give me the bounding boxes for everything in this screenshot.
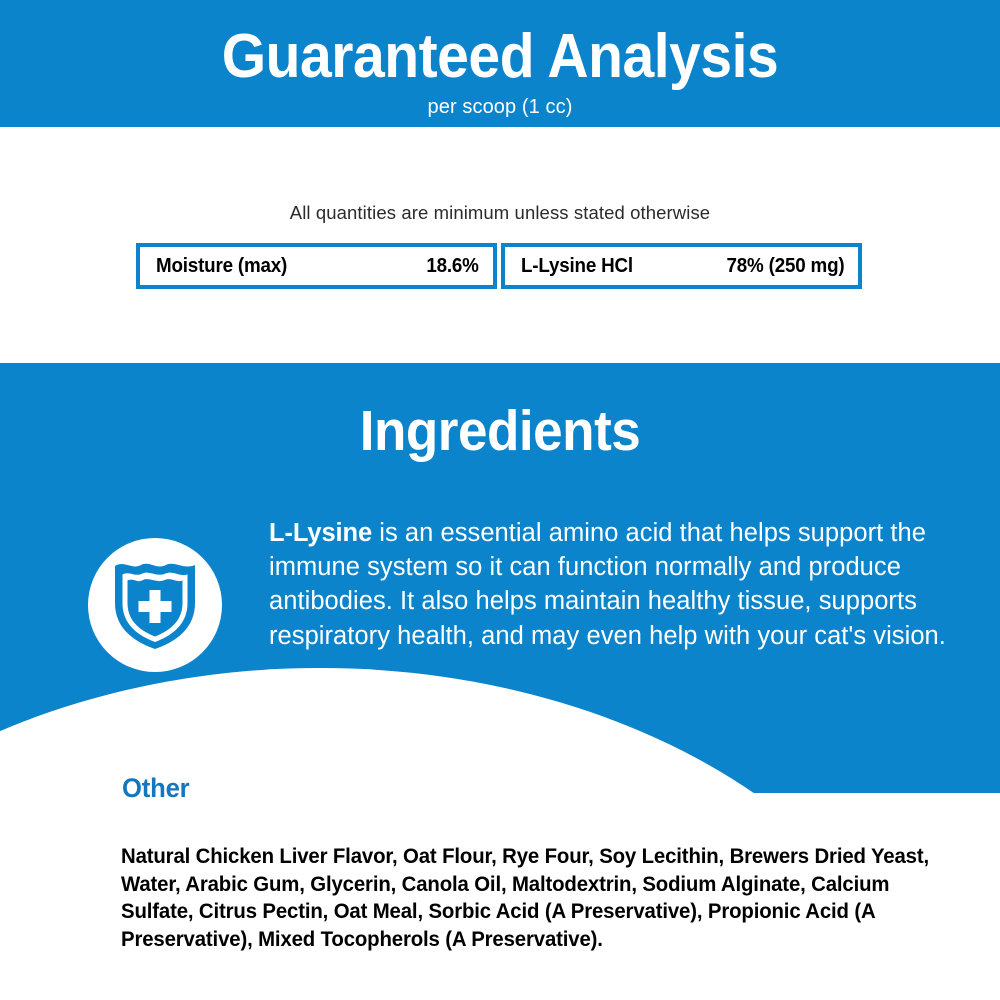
ingredient-lead-term: L-Lysine xyxy=(269,519,372,547)
guaranteed-analysis-label: Guaranteed Analysis per scoop (1 cc) All… xyxy=(0,0,1000,1000)
analysis-note: All quantities are minimum unless stated… xyxy=(0,201,1000,225)
analysis-section: All quantities are minimum unless stated… xyxy=(0,127,1000,363)
analysis-table: Moisture (max) 18.6% L-Lysine HCl 78% (2… xyxy=(136,243,862,289)
analysis-row-moisture: Moisture (max) 18.6% xyxy=(136,243,497,289)
header-band: Guaranteed Analysis per scoop (1 cc) xyxy=(0,0,1000,127)
shield-badge xyxy=(88,538,222,672)
analysis-nutrient-value: 78% (250 mg) xyxy=(726,255,844,277)
ingredients-heading: Ingredients xyxy=(35,400,965,462)
analysis-nutrient-name: Moisture (max) xyxy=(156,255,287,277)
analysis-nutrient-value: 18.6% xyxy=(427,255,479,277)
other-ingredients-list: Natural Chicken Liver Flavor, Oat Flour,… xyxy=(121,843,934,953)
ingredient-description: L-Lysine is an essential amino acid that… xyxy=(269,516,969,653)
header-subtitle: per scoop (1 cc) xyxy=(0,95,1000,119)
page-title: Guaranteed Analysis xyxy=(40,24,960,90)
shield-plus-icon xyxy=(112,559,198,651)
analysis-row-l-lysine-hcl: L-Lysine HCl 78% (250 mg) xyxy=(501,243,862,289)
analysis-nutrient-name: L-Lysine HCl xyxy=(521,255,633,277)
other-section: Other Natural Chicken Liver Flavor, Oat … xyxy=(0,793,1000,1000)
other-heading: Other xyxy=(122,773,189,803)
ingredients-section: Ingredients L-Lysine is an essential ami… xyxy=(0,363,1000,793)
